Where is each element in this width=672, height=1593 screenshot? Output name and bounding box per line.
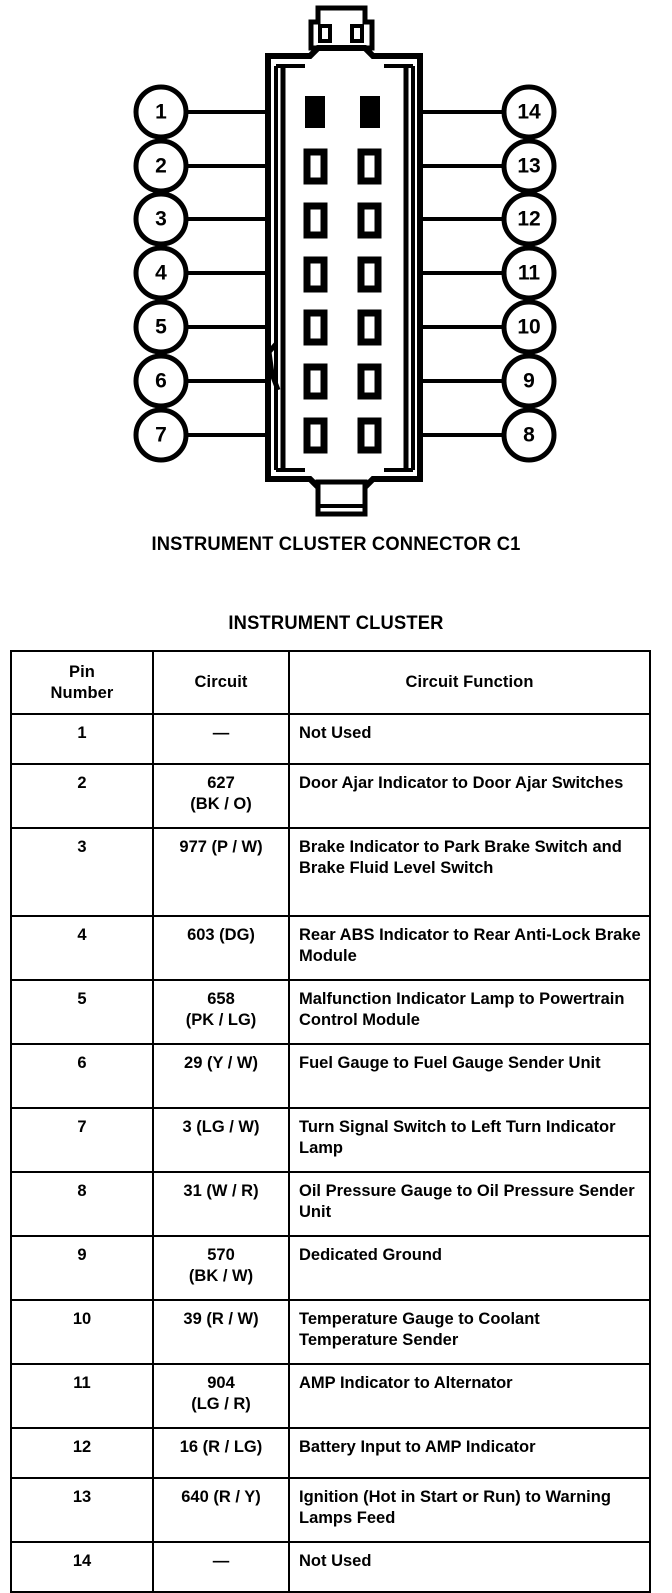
table-row: 831 (W / R)Oil Pressure Gauge to Oil Pre… [11,1172,650,1236]
column-header-pin-line1: Pin [69,663,95,681]
pin-callout-9[interactable]: 9 [504,356,554,406]
cell-circuit: 603 (DG) [153,916,289,980]
pin-callout-label: 11 [518,262,541,285]
cell-circuit-function: Brake Indicator to Park Brake Switch and… [289,828,650,916]
cell-circuit-function: Rear ABS Indicator to Rear Anti-Lock Bra… [289,916,650,980]
pin-callout-label: 13 [517,155,540,178]
table-row: 9570 (BK / W)Dedicated Ground [11,1236,650,1300]
cell-circuit-function: Ignition (Hot in Start or Run) to Warnin… [289,1478,650,1542]
cell-pin-number: 6 [11,1044,153,1108]
pin-callout-12[interactable]: 12 [504,194,554,244]
pin-callout-6[interactable]: 6 [136,356,186,406]
table-row: 1039 (R / W)Temperature Gauge to Coolant… [11,1300,650,1364]
pin-callout-10[interactable]: 10 [504,302,554,352]
cell-circuit: — [153,714,289,764]
cell-circuit: 39 (R / W) [153,1300,289,1364]
pin-callout-8[interactable]: 8 [504,410,554,460]
pin-callout-label: 3 [155,208,167,231]
cell-circuit: 627 (BK / O) [153,764,289,828]
pin-callout-label: 2 [155,155,167,178]
cell-circuit: — [153,1542,289,1592]
table-title: INSTRUMENT CLUSTER [20,612,652,635]
table-row: 629 (Y / W)Fuel Gauge to Fuel Gauge Send… [11,1044,650,1108]
pin-callout-1[interactable]: 1 [136,87,186,137]
connector-caption: INSTRUMENT CLUSTER CONNECTOR C1 [20,533,652,556]
cell-pin-number: 8 [11,1172,153,1236]
cell-circuit: 570 (BK / W) [153,1236,289,1300]
cell-pin-number: 11 [11,1364,153,1428]
cell-circuit-function: Battery Input to AMP Indicator [289,1428,650,1478]
table-row: 1216 (R / LG)Battery Input to AMP Indica… [11,1428,650,1478]
pin-assignment-table: Pin Number Circuit Circuit Function 1—No… [10,650,651,1593]
cell-circuit: 16 (R / LG) [153,1428,289,1478]
cell-circuit: 977 (P / W) [153,828,289,916]
table-row: 14—Not Used [11,1542,650,1592]
pin-callout-label: 6 [155,370,167,393]
table-row: 73 (LG / W)Turn Signal Switch to Left Tu… [11,1108,650,1172]
pin-callout-label: 9 [523,370,535,393]
table-row: 2627 (BK / O)Door Ajar Indicator to Door… [11,764,650,828]
cell-circuit-function: Not Used [289,714,650,764]
cell-circuit-function: Door Ajar Indicator to Door Ajar Switche… [289,764,650,828]
pin-callout-11[interactable]: 11 [504,248,554,298]
cell-circuit: 658 (PK / LG) [153,980,289,1044]
pin-callout-5[interactable]: 5 [136,302,186,352]
pin-callout-label: 4 [155,262,167,285]
cell-pin-number: 4 [11,916,153,980]
cell-pin-number: 9 [11,1236,153,1300]
cell-circuit-function: Not Used [289,1542,650,1592]
column-header-circuit: Circuit [153,651,289,714]
cell-circuit-function: Oil Pressure Gauge to Oil Pressure Sende… [289,1172,650,1236]
pin-callout-label: 5 [155,316,167,339]
pin-callout-label: 14 [517,101,541,124]
table-row: 1—Not Used [11,714,650,764]
pin-callout-3[interactable]: 3 [136,194,186,244]
column-header-circuit-function: Circuit Function [289,651,650,714]
pin-callouts-right: 14 13 12 11 10 9 [504,87,554,460]
pin-callout-14[interactable]: 14 [504,87,554,137]
table-header: Pin Number Circuit Circuit Function [11,651,650,714]
table-row: 11904 (LG / R)AMP Indicator to Alternato… [11,1364,650,1428]
table-row: 4603 (DG)Rear ABS Indicator to Rear Anti… [11,916,650,980]
table-row: 13640 (R / Y)Ignition (Hot in Start or R… [11,1478,650,1542]
pin-callout-label: 1 [155,101,167,124]
column-header-pin-line2: Number [51,684,114,702]
cell-pin-number: 7 [11,1108,153,1172]
column-header-pin-number: Pin Number [11,651,153,714]
cell-pin-number: 14 [11,1542,153,1592]
connector-diagram-svg: 1 2 3 4 5 6 7 [0,0,672,600]
connector-body-outline [268,48,420,487]
pin-callout-label: 10 [517,316,540,339]
pin-callout-label: 12 [517,208,540,231]
cell-circuit: 3 (LG / W) [153,1108,289,1172]
cell-circuit-function: AMP Indicator to Alternator [289,1364,650,1428]
cell-circuit-function: Malfunction Indicator Lamp to Powertrain… [289,980,650,1044]
cell-pin-number: 12 [11,1428,153,1478]
table-row: 3977 (P / W)Brake Indicator to Park Brak… [11,828,650,916]
pin-callout-7[interactable]: 7 [136,410,186,460]
cell-circuit-function: Temperature Gauge to Coolant Temperature… [289,1300,650,1364]
cell-circuit-function: Dedicated Ground [289,1236,650,1300]
pin-callout-13[interactable]: 13 [504,141,554,191]
cell-circuit: 904 (LG / R) [153,1364,289,1428]
table-row: 5658 (PK / LG)Malfunction Indicator Lamp… [11,980,650,1044]
table-body: 1—Not Used2627 (BK / O)Door Ajar Indicat… [11,714,650,1592]
pin-callout-label: 8 [523,424,535,447]
cell-circuit-function: Fuel Gauge to Fuel Gauge Sender Unit [289,1044,650,1108]
cell-circuit: 31 (W / R) [153,1172,289,1236]
cell-pin-number: 2 [11,764,153,828]
connector-bottom-latch [318,482,365,514]
cell-pin-number: 10 [11,1300,153,1364]
connector-top-latch [311,8,372,48]
cell-pin-number: 13 [11,1478,153,1542]
pin-callout-label: 7 [155,424,167,447]
cell-pin-number: 1 [11,714,153,764]
pin-callout-4[interactable]: 4 [136,248,186,298]
pin-callouts-left: 1 2 3 4 5 6 7 [136,87,186,460]
pin-callout-2[interactable]: 2 [136,141,186,191]
cell-circuit: 29 (Y / W) [153,1044,289,1108]
cell-pin-number: 5 [11,980,153,1044]
connector-figure: 1 2 3 4 5 6 7 [0,0,672,600]
cell-circuit-function: Turn Signal Switch to Left Turn Indicato… [289,1108,650,1172]
cell-pin-number: 3 [11,828,153,916]
table-header-row: Pin Number Circuit Circuit Function [11,651,650,714]
cell-circuit: 640 (R / Y) [153,1478,289,1542]
